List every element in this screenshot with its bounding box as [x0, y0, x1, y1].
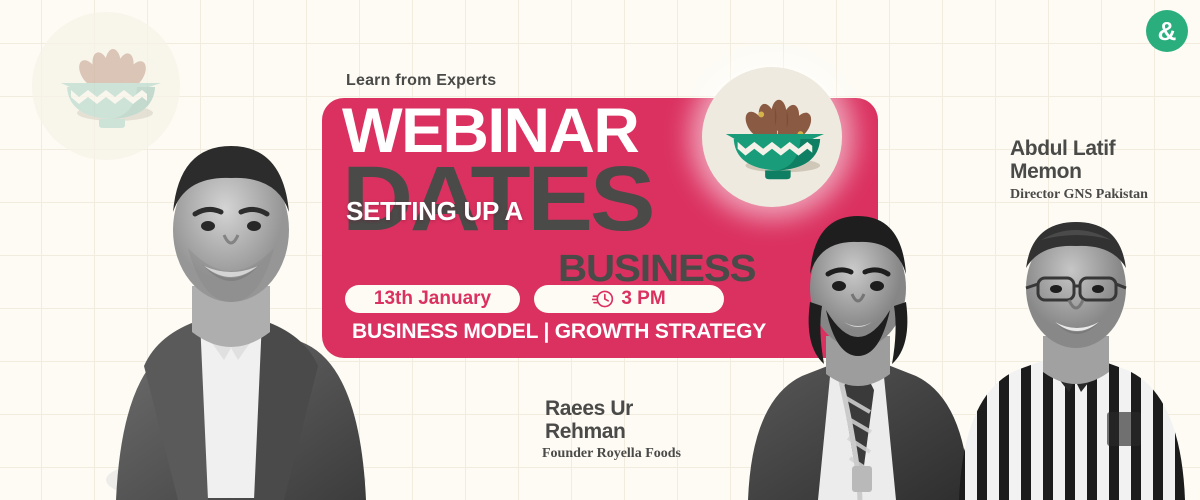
- speaker-name-line2: Memon: [1010, 161, 1148, 184]
- speaker-caption-center: Raees Ur Rehman Founder Royella Foods: [545, 398, 681, 462]
- date-badge[interactable]: 13th January: [345, 285, 520, 313]
- speaker-role: Founder Royella Foods: [542, 446, 681, 462]
- speaker-caption-right: Abdul Latif Memon Director GNS Pakistan: [1010, 138, 1148, 203]
- eyebrow-text: Learn from Experts: [346, 72, 496, 90]
- title-setting-up-a: SETTING UP A: [346, 196, 523, 227]
- dates-bowl-icon: [718, 94, 826, 180]
- webinar-banner: Learn from Experts DATES WEBINAR SETTING…: [0, 0, 1200, 500]
- event-details-badges: 13th January 3 PM: [345, 285, 724, 313]
- title-webinar: WEBINAR: [342, 102, 638, 162]
- time-badge[interactable]: 3 PM: [534, 285, 724, 313]
- time-label: 3 PM: [621, 288, 665, 310]
- speaker-role: Director GNS Pakistan: [1010, 187, 1148, 203]
- clock-icon: [592, 288, 614, 310]
- topics-line: BUSINESS MODEL | GROWTH STRATEGY: [352, 320, 766, 344]
- speaker-name-line1: Abdul Latif: [1010, 138, 1148, 161]
- speaker-name-line2: Rehman: [545, 421, 681, 444]
- speaker-name-line1: Raees Ur: [545, 398, 681, 421]
- date-label: 13th January: [374, 288, 491, 310]
- ampersand-logo-icon[interactable]: &: [1146, 10, 1188, 52]
- dates-bowl-medallion: [702, 67, 842, 207]
